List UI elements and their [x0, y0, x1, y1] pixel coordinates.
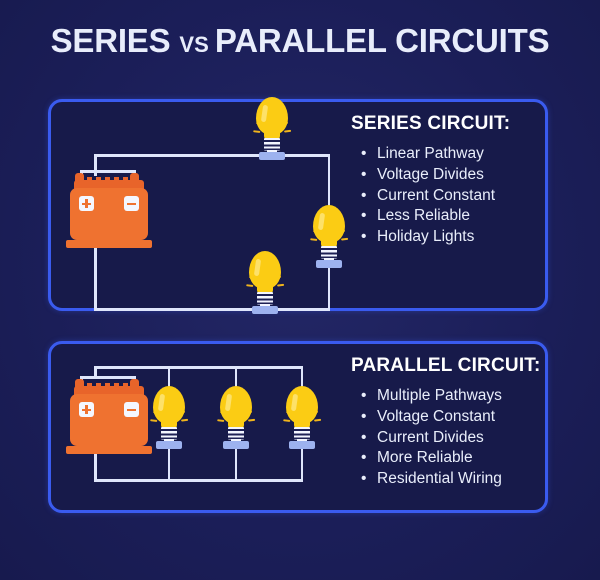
list-item-label: Less Reliable: [377, 207, 470, 224]
parallel-circuit-panel: PARALLEL CIRCUIT: •Multiple Pathways •Vo…: [48, 341, 548, 513]
title-vs-word: VS: [179, 32, 214, 57]
list-item: •Holiday Lights: [351, 227, 510, 248]
bulb-socket: [252, 306, 278, 314]
battery-terminal-wire-top: [80, 170, 135, 173]
series-circuit-panel: SERIES CIRCUIT: •Linear Pathway •Voltage…: [48, 99, 548, 311]
bulb-socket: [259, 152, 285, 160]
bullet-icon: •: [361, 206, 366, 227]
list-item-label: Current Constant: [377, 187, 495, 204]
bullet-icon: •: [361, 469, 366, 490]
parallel-heading: PARALLEL CIRCUIT:: [351, 355, 541, 377]
list-item-label: Multiple Pathways: [377, 387, 502, 404]
list-item-label: More Reliable: [377, 449, 473, 466]
list-item-label: Current Divides: [377, 429, 484, 446]
list-item-label: Residential Wiring: [377, 470, 502, 487]
bulb-socket: [289, 441, 315, 449]
minus-icon: [127, 203, 136, 206]
infographic-page: SERIES VS PARALLEL CIRCUITS: [0, 0, 600, 580]
bulb-socket: [156, 441, 182, 449]
list-item-label: Voltage Constant: [377, 408, 495, 425]
title-parallel-word: PARALLEL CIRCUITS: [215, 22, 550, 59]
list-item-label: Voltage Divides: [377, 166, 484, 183]
list-item: •Less Reliable: [351, 206, 510, 227]
title-series-word: SERIES: [51, 22, 180, 59]
parallel-info-block: PARALLEL CIRCUIT: •Multiple Pathways •Vo…: [351, 355, 541, 490]
battery-base-plate: [66, 240, 152, 248]
list-item: •More Reliable: [351, 448, 541, 469]
list-item: •Current Constant: [351, 186, 510, 207]
bulb-socket: [223, 441, 249, 449]
list-item: •Current Divides: [351, 428, 541, 449]
parallel-bulb-1: [138, 376, 200, 454]
bullet-icon: •: [361, 144, 366, 165]
battery-terminal-wire-top: [80, 376, 135, 379]
battery-negative-badge: [124, 196, 139, 211]
parallel-bulb-2: [205, 376, 267, 454]
list-item: •Linear Pathway: [351, 144, 510, 165]
parallel-wire-top-rail: [94, 366, 303, 369]
series-heading: SERIES CIRCUIT:: [351, 113, 510, 135]
plus-icon-vertical: [85, 199, 88, 208]
parallel-bullet-list: •Multiple Pathways •Voltage Constant •Cu…: [351, 386, 541, 490]
list-item: •Residential Wiring: [351, 469, 541, 490]
bullet-icon: •: [361, 428, 366, 449]
battery-positive-badge: [79, 196, 94, 211]
bullet-icon: •: [361, 386, 366, 407]
list-item: •Voltage Constant: [351, 407, 541, 428]
bullet-icon: •: [361, 165, 366, 186]
series-bulb-2: [234, 241, 296, 319]
bulb-socket: [316, 260, 342, 268]
parallel-wire-bottom-rail: [94, 479, 303, 482]
list-item-label: Holiday Lights: [377, 228, 474, 245]
series-info-block: SERIES CIRCUIT: •Linear Pathway •Voltage…: [351, 113, 510, 248]
series-wire-left-bottom: [94, 248, 97, 310]
series-bullet-list: •Linear Pathway •Voltage Divides •Curren…: [351, 144, 510, 248]
plus-icon-vertical: [85, 405, 88, 414]
minus-icon: [127, 409, 136, 412]
series-battery: [66, 170, 152, 254]
bullet-icon: •: [361, 407, 366, 428]
list-item: •Voltage Divides: [351, 165, 510, 186]
page-title: SERIES VS PARALLEL CIRCUITS: [0, 22, 600, 60]
bullet-icon: •: [361, 186, 366, 207]
parallel-bulb-3: [271, 376, 333, 454]
bullet-icon: •: [361, 227, 366, 248]
list-item-label: Linear Pathway: [377, 145, 484, 162]
battery-negative-badge: [124, 402, 139, 417]
battery-positive-badge: [79, 402, 94, 417]
bullet-icon: •: [361, 448, 366, 469]
list-item: •Multiple Pathways: [351, 386, 541, 407]
series-bulb-1: [241, 87, 303, 165]
